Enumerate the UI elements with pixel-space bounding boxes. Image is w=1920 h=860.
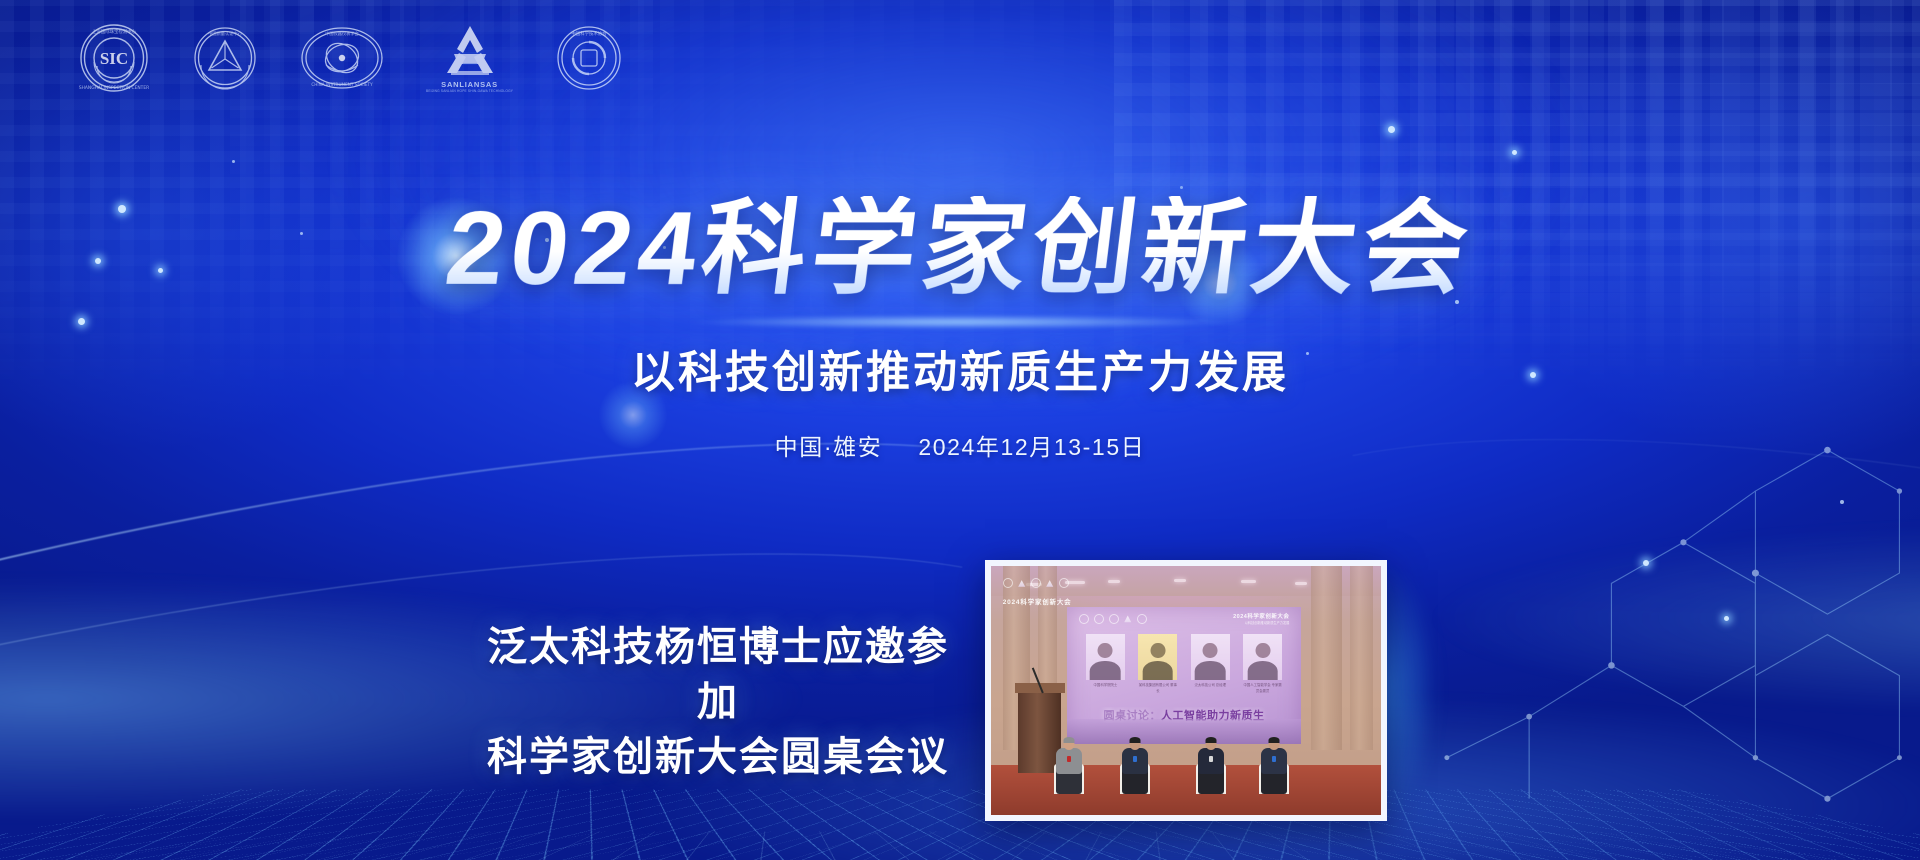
screen-brand: 2024科学家创新大会 以科技创新推动新质生产力发展 — [1233, 613, 1289, 626]
svg-text:CHINA INSTRUMENT SOCIETY: CHINA INSTRUMENT SOCIETY — [311, 82, 373, 87]
svg-text:中国科学技术协会: 中国科学技术协会 — [572, 30, 608, 37]
svg-text:SIC: SIC — [100, 49, 128, 68]
svg-text:SHANGHAI INSPECTION CENTER: SHANGHAI INSPECTION CENTER — [79, 85, 149, 91]
speaker-name: 某科技集团有限公司 董事长 — [1138, 683, 1177, 694]
sic-emblem-icon: SIC 上海国际珠宝检测中心 SHANGHAI INSPECTION CENTE… — [78, 22, 150, 94]
event-dates: 2024年12月13-15日 — [918, 434, 1145, 460]
screen-bottom-band — [1067, 719, 1301, 744]
photo-presentation-screen: 2024科学家创新大会 以科技创新推动新质生产力发展 中国科学院院士 — [1067, 607, 1301, 744]
event-location: 中国·雄安 — [775, 434, 883, 460]
title-underglow — [580, 314, 1340, 330]
speaker-name: 泛太科技公司 总经理 — [1191, 683, 1230, 688]
screen-brand-sub: 以科技创新推动新质生产力发展 — [1233, 621, 1289, 626]
sponsor-logo-row: SIC 上海国际珠宝检测中心 SHANGHAI INSPECTION CENTE… — [78, 22, 623, 94]
photo-stage-banner: 2024科学家创新大会 — [1003, 596, 1072, 606]
atom-circle-emblem-icon: 中国仪器仪表学会 CHINA INSTRUMENT SOCIETY — [300, 25, 384, 91]
speaker-name: 中国科学院院士 — [1086, 683, 1125, 688]
page-title: 2024科学家创新大会 — [431, 196, 1489, 302]
speaker-portrait — [1138, 634, 1177, 680]
svg-text:中国仪器仪表学会: 中国仪器仪表学会 — [325, 30, 359, 37]
circular-institute-emblem-icon: 中国科学技术协会 — [555, 24, 623, 92]
event-location-date: 中国·雄安 2024年12月13-15日 — [0, 428, 1920, 462]
speaker-card: 中国人工智能学会 专家委员会委员 — [1243, 634, 1282, 694]
screen-speaker-cards: 中国科学院院士 某科技集团有限公司 董事长 泛太科技公司 总经理 — [1086, 634, 1283, 694]
speaker-card: 中国科学院院士 — [1086, 634, 1125, 694]
screen-brand-title: 2024科学家创新大会 — [1233, 614, 1289, 620]
photo-podium — [1018, 691, 1061, 773]
headline-block: 泛太科技杨恒博士应邀参加 科学家创新大会圆桌会议 — [468, 620, 968, 786]
speaker-name: 中国人工智能学会 专家委员会委员 — [1243, 683, 1282, 694]
speaker-card: 某科技集团有限公司 董事长 — [1138, 634, 1177, 694]
sanliansas-wordmark-sub: BEIJING SANLIAN HOPE SHIN-GAWA TECHNOLOG… — [426, 90, 513, 93]
speaker-card: 泛太科技公司 总经理 — [1191, 634, 1230, 694]
subtitle: 以科技创新推动新质生产力发展 — [0, 336, 1920, 400]
speaker-portrait — [1243, 634, 1282, 680]
svg-text:中国质量认证中心: 中国质量认证中心 — [208, 30, 242, 37]
roundtable-photo: 2024科学家创新大会 2024科学家创新大会 以科技创新推动新质生产力发展 中… — [985, 560, 1387, 821]
sanliansas-wordmark: SANLIANSAS — [441, 81, 498, 89]
sanliansas-triangle-logo: SANLIANSAS BEIJING SANLIAN HOPE SHIN-GAW… — [426, 23, 513, 94]
speaker-portrait — [1191, 634, 1230, 680]
headline-line-2: 科学家创新大会圆桌会议 — [468, 730, 968, 785]
photo-stage-floor — [991, 765, 1381, 815]
svg-text:上海国际珠宝检测中心: 上海国际珠宝检测中心 — [92, 28, 137, 35]
title-block: 2024科学家创新大会 以科技创新推动新质生产力发展 中国·雄安 2024年12… — [0, 196, 1920, 462]
headline-line-1: 泛太科技杨恒博士应邀参加 — [468, 620, 968, 730]
conference-poster: SIC 上海国际珠宝检测中心 SHANGHAI INSPECTION CENTE… — [0, 0, 1920, 860]
screen-logo-strip — [1079, 614, 1147, 624]
triangle-circle-emblem-icon: 中国质量认证中心 — [192, 25, 258, 91]
speaker-portrait — [1086, 634, 1125, 680]
